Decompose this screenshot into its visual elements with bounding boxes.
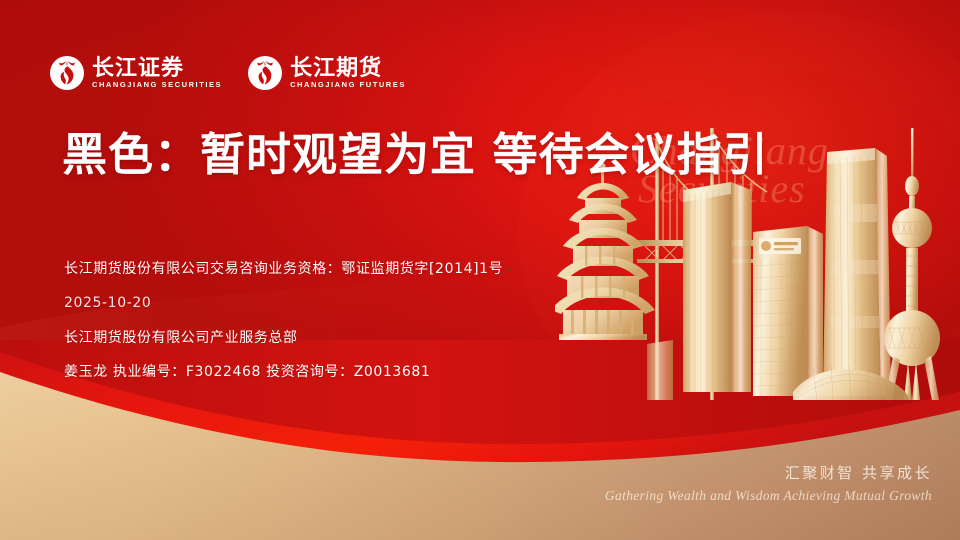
logo-securities-en: CHANGJIANG SECURITIES: [92, 81, 222, 89]
logo-futures-text: 长江期货 CHANGJIANG FUTURES: [290, 58, 406, 89]
meta-department: 长江期货股份有限公司产业服务总部: [64, 331, 503, 346]
logo-changjiang-futures[interactable]: 长江期货 CHANGJIANG FUTURES: [248, 56, 406, 90]
logo-futures-cn: 长江期货: [290, 58, 406, 80]
meta-analyst: 姜玉龙 执业编号：F3022468 投资咨询号：Z0013681: [64, 365, 503, 380]
changjiang-flame-icon: [50, 56, 84, 90]
slide-meta-block: 长江期货股份有限公司交易咨询业务资格：鄂证监期货字[2014]1号 2025-1…: [64, 262, 503, 381]
presentation-slide: Changjiang Securities: [0, 0, 960, 540]
slide-title: 黑色：暂时观望为宜 等待会议指引: [62, 128, 769, 182]
logo-securities-text: 长江证券 CHANGJIANG SECURITIES: [92, 58, 222, 89]
changjiang-flame-icon: [248, 56, 282, 90]
meta-qualification: 长江期货股份有限公司交易咨询业务资格：鄂证监期货字[2014]1号: [64, 262, 503, 277]
brand-tagline: 汇聚财智 共享成长 Gathering Wealth and Wisdom Ac…: [605, 463, 932, 504]
meta-date: 2025-10-20: [64, 296, 503, 311]
logo-securities-cn: 长江证券: [92, 58, 222, 80]
logo-changjiang-securities[interactable]: 长江证券 CHANGJIANG SECURITIES: [50, 56, 222, 90]
brand-logo-row: 长江证券 CHANGJIANG SECURITIES 长江期货 CHANGJIA…: [50, 56, 406, 90]
tagline-cn: 汇聚财智 共享成长: [605, 463, 932, 484]
logo-futures-en: CHANGJIANG FUTURES: [290, 81, 406, 89]
tagline-en: Gathering Wealth and Wisdom Achieving Mu…: [605, 488, 932, 504]
